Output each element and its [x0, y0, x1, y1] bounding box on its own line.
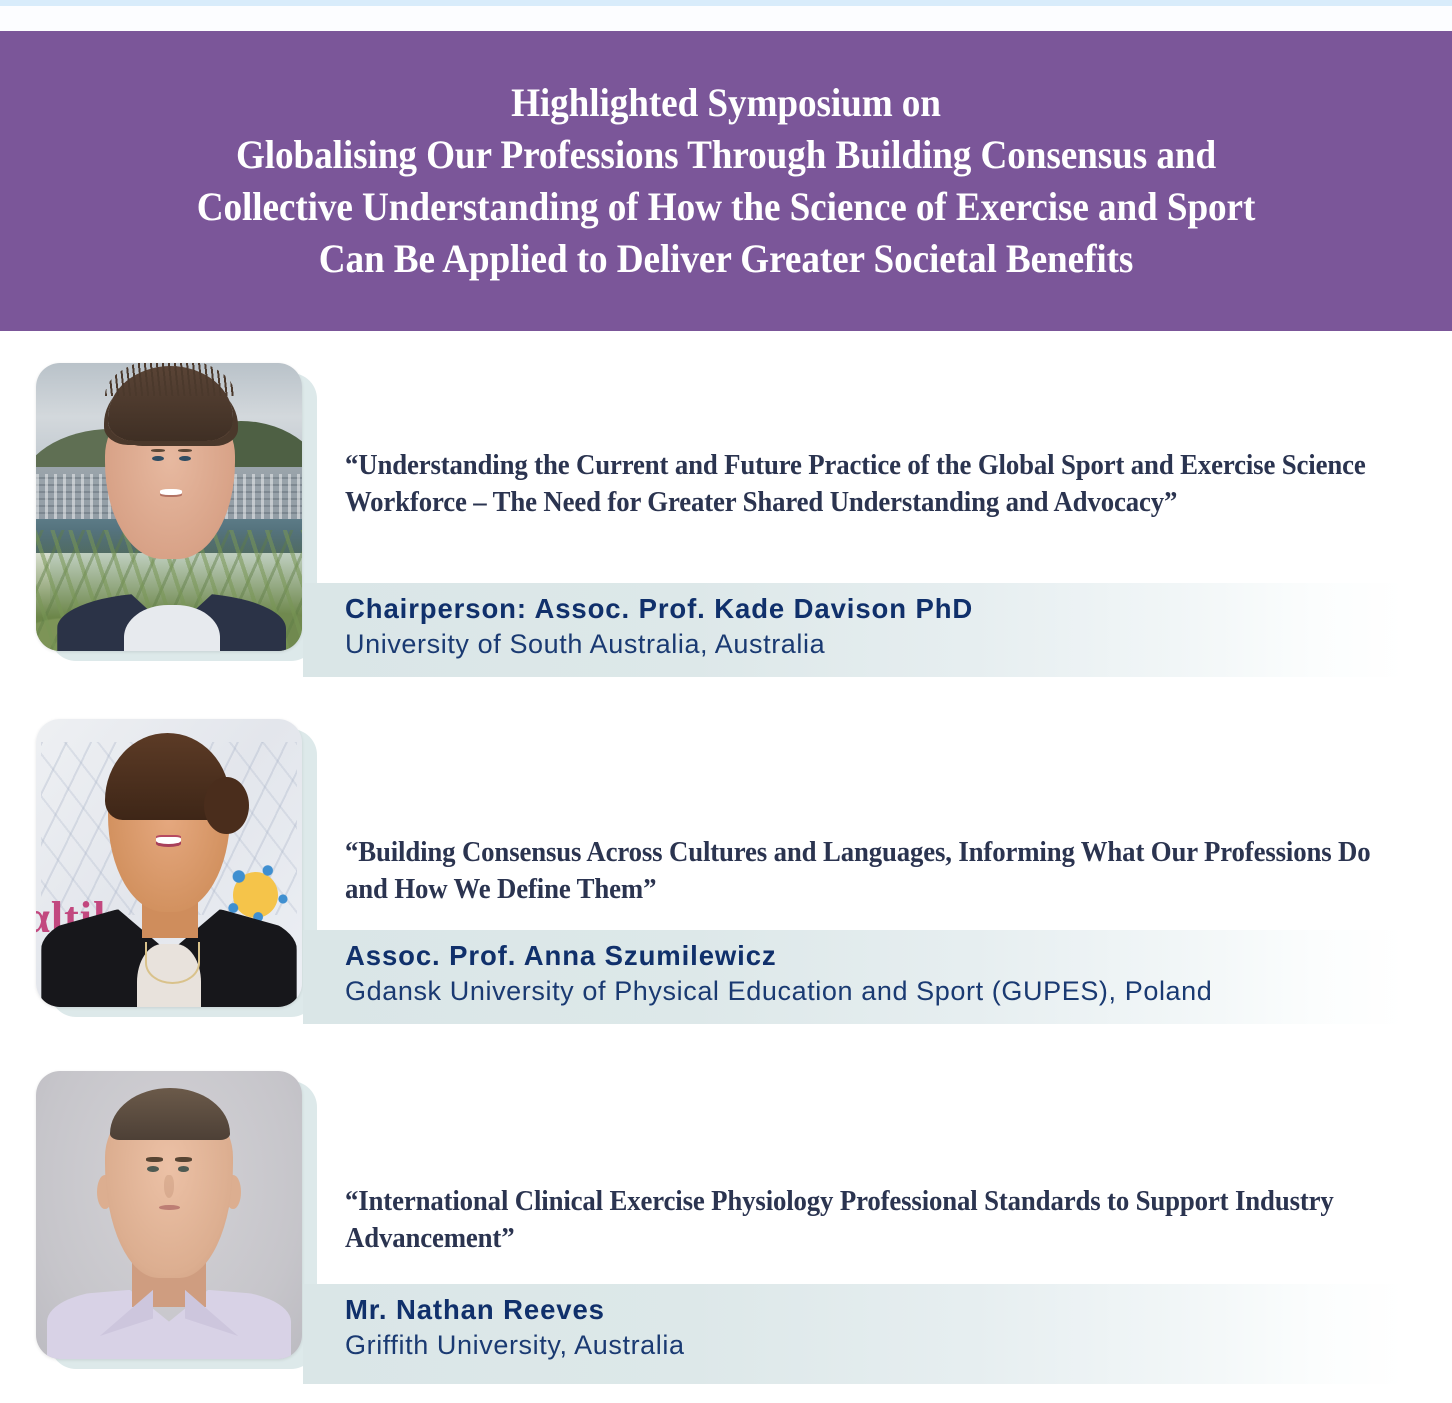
speaker-photo-3 [36, 1071, 302, 1359]
speaker-affiliation-1: University of South Australia, Australia [345, 629, 825, 660]
photo-nose [164, 1175, 174, 1198]
photo-eye-right [179, 456, 191, 461]
photo-brow-left [146, 1157, 163, 1162]
photo-mouth [160, 489, 182, 494]
photo-eye-left [147, 1166, 158, 1172]
portrait-anna-szumilewicz: αltik [36, 719, 302, 1007]
talk-title-3: “International Clinical Exercise Physiol… [345, 1183, 1374, 1257]
photo-mouth [159, 1205, 181, 1210]
photo-smile [156, 837, 182, 844]
speaker-photo-2: αltik [36, 719, 302, 1007]
photo-hair-bun [204, 777, 249, 835]
talk-title-1: “Understanding the Current and Future Pr… [345, 447, 1374, 521]
photo-brow-right [175, 1157, 192, 1162]
photo-necklace [145, 942, 200, 984]
header-banner: Highlighted Symposium on Globalising Our… [0, 31, 1452, 331]
photo-hair [108, 366, 233, 441]
portrait-nathan-reeves [36, 1071, 302, 1359]
top-white-gap [0, 6, 1452, 31]
talk-title-2: “Building Consensus Across Cultures and … [345, 834, 1374, 908]
portrait-kade-davison [36, 363, 302, 651]
photo-eye-left [152, 456, 164, 461]
speaker-name-2: Assoc. Prof. Anna Szumilewicz [345, 940, 777, 972]
photo-brow-left [151, 449, 165, 452]
speaker-affiliation-3: Griffith University, Australia [345, 1330, 685, 1361]
speaker-photo-1 [36, 363, 302, 651]
symposium-title: Highlighted Symposium on Globalising Our… [75, 77, 1377, 285]
speaker-affiliation-2: Gdansk University of Physical Education … [345, 976, 1212, 1007]
photo-brow-right [178, 449, 192, 452]
photo-eye-right [178, 1166, 189, 1172]
symposium-poster: Highlighted Symposium on Globalising Our… [0, 0, 1452, 1403]
speaker-name-1: Chairperson: Assoc. Prof. Kade Davison P… [345, 593, 973, 625]
speaker-name-3: Mr. Nathan Reeves [345, 1294, 605, 1326]
